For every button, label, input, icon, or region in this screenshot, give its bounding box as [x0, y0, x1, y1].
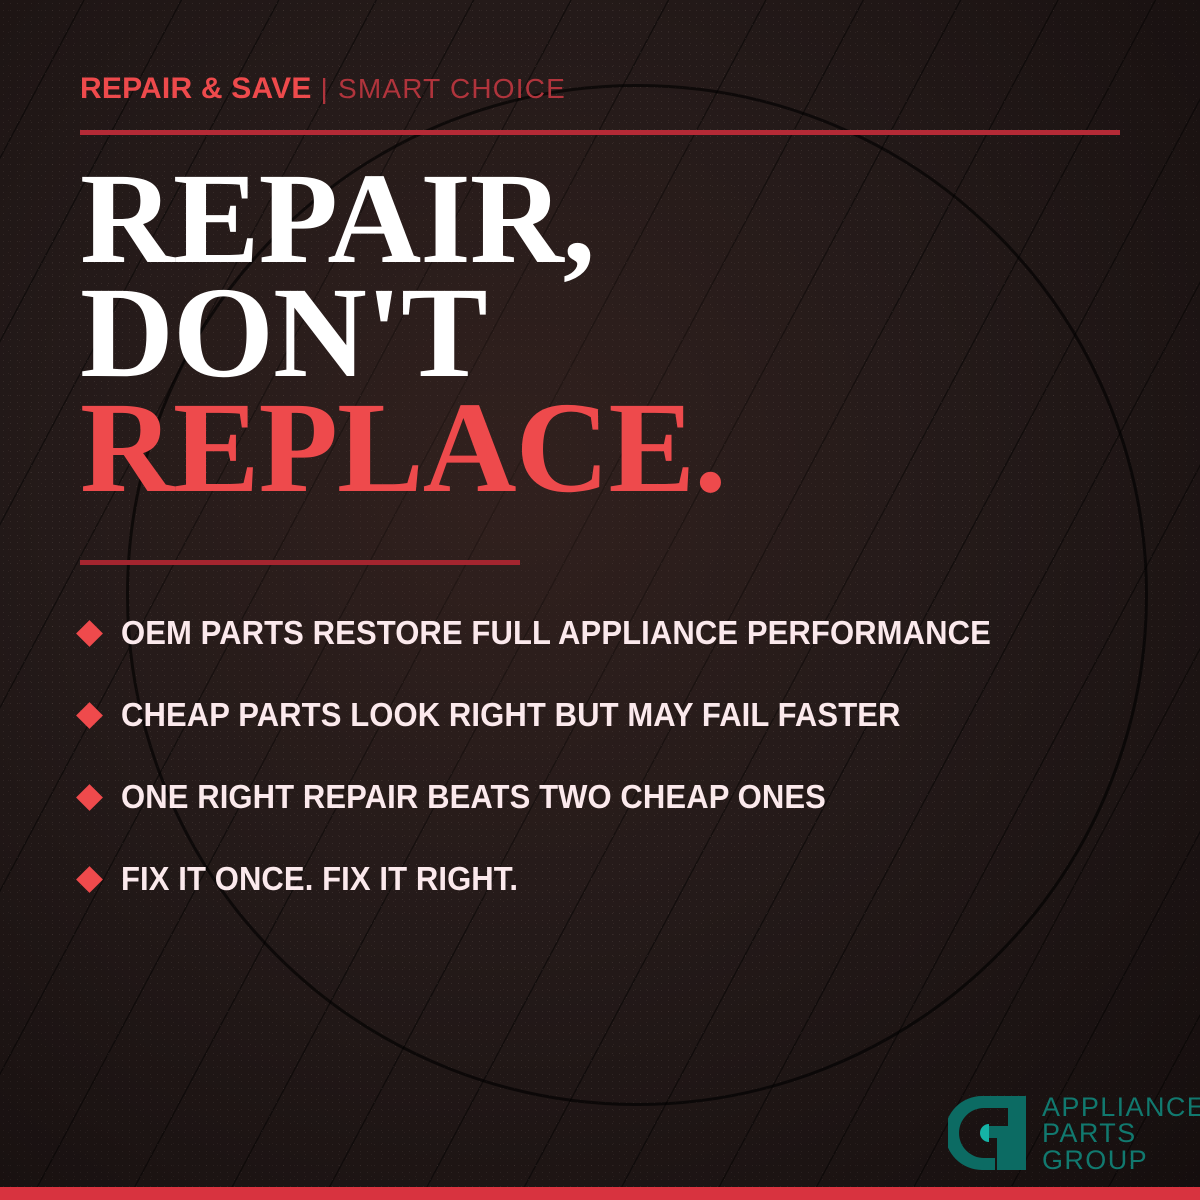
list-item-label: ONE RIGHT REPAIR BEATS TWO CHEAP ONES — [121, 778, 826, 816]
logo-line-3: GROUP — [1042, 1147, 1200, 1173]
list-item-label: OEM PARTS RESTORE FULL APPLIANCE PERFORM… — [121, 614, 991, 652]
logo-line-1: APPLIANCE — [1042, 1094, 1200, 1120]
letter-g-mark-icon — [948, 1092, 1030, 1174]
list-item-label: FIX IT ONCE. FIX IT RIGHT. — [121, 860, 518, 898]
logo-line-2: PARTS — [1042, 1120, 1200, 1146]
list-item-label: CHEAP PARTS LOOK RIGHT BUT MAY FAIL FAST… — [121, 696, 901, 734]
poster-canvas: REPAIR & SAVE| SMART CHOICE REPAIR, DON'… — [0, 0, 1200, 1200]
bottom-accent-bar — [0, 1187, 1200, 1200]
diamond-bullet-icon — [76, 702, 103, 729]
headline-line-3: REPLACE. — [80, 391, 726, 505]
diamond-bullet-icon — [76, 866, 103, 893]
page-title: REPAIR, DON'T REPLACE. — [80, 162, 726, 505]
brand-logo: APPLIANCE PARTS GROUP — [948, 1092, 1200, 1174]
benefit-list: OEM PARTS RESTORE FULL APPLIANCE PERFORM… — [80, 592, 1160, 920]
headline-divider-rule — [80, 560, 520, 565]
eyebrow-header: REPAIR & SAVE| SMART CHOICE — [80, 74, 566, 104]
headline-line-1: REPAIR, — [80, 162, 726, 276]
poster-content: REPAIR & SAVE| SMART CHOICE REPAIR, DON'… — [0, 0, 1200, 1200]
list-item: ONE RIGHT REPAIR BEATS TWO CHEAP ONES — [80, 756, 1160, 838]
list-item: OEM PARTS RESTORE FULL APPLIANCE PERFORM… — [80, 592, 1160, 674]
list-item: CHEAP PARTS LOOK RIGHT BUT MAY FAIL FAST… — [80, 674, 1160, 756]
eyebrow-main-label: REPAIR & SAVE — [80, 72, 312, 105]
diamond-bullet-icon — [76, 784, 103, 811]
list-item: FIX IT ONCE. FIX IT RIGHT. — [80, 838, 1160, 920]
header-divider-rule — [80, 130, 1120, 135]
diamond-bullet-icon — [76, 620, 103, 647]
eyebrow-sub-label: | SMART CHOICE — [321, 73, 567, 104]
headline-line-2: DON'T — [80, 276, 726, 390]
brand-logo-wordmark: APPLIANCE PARTS GROUP — [1042, 1092, 1200, 1173]
